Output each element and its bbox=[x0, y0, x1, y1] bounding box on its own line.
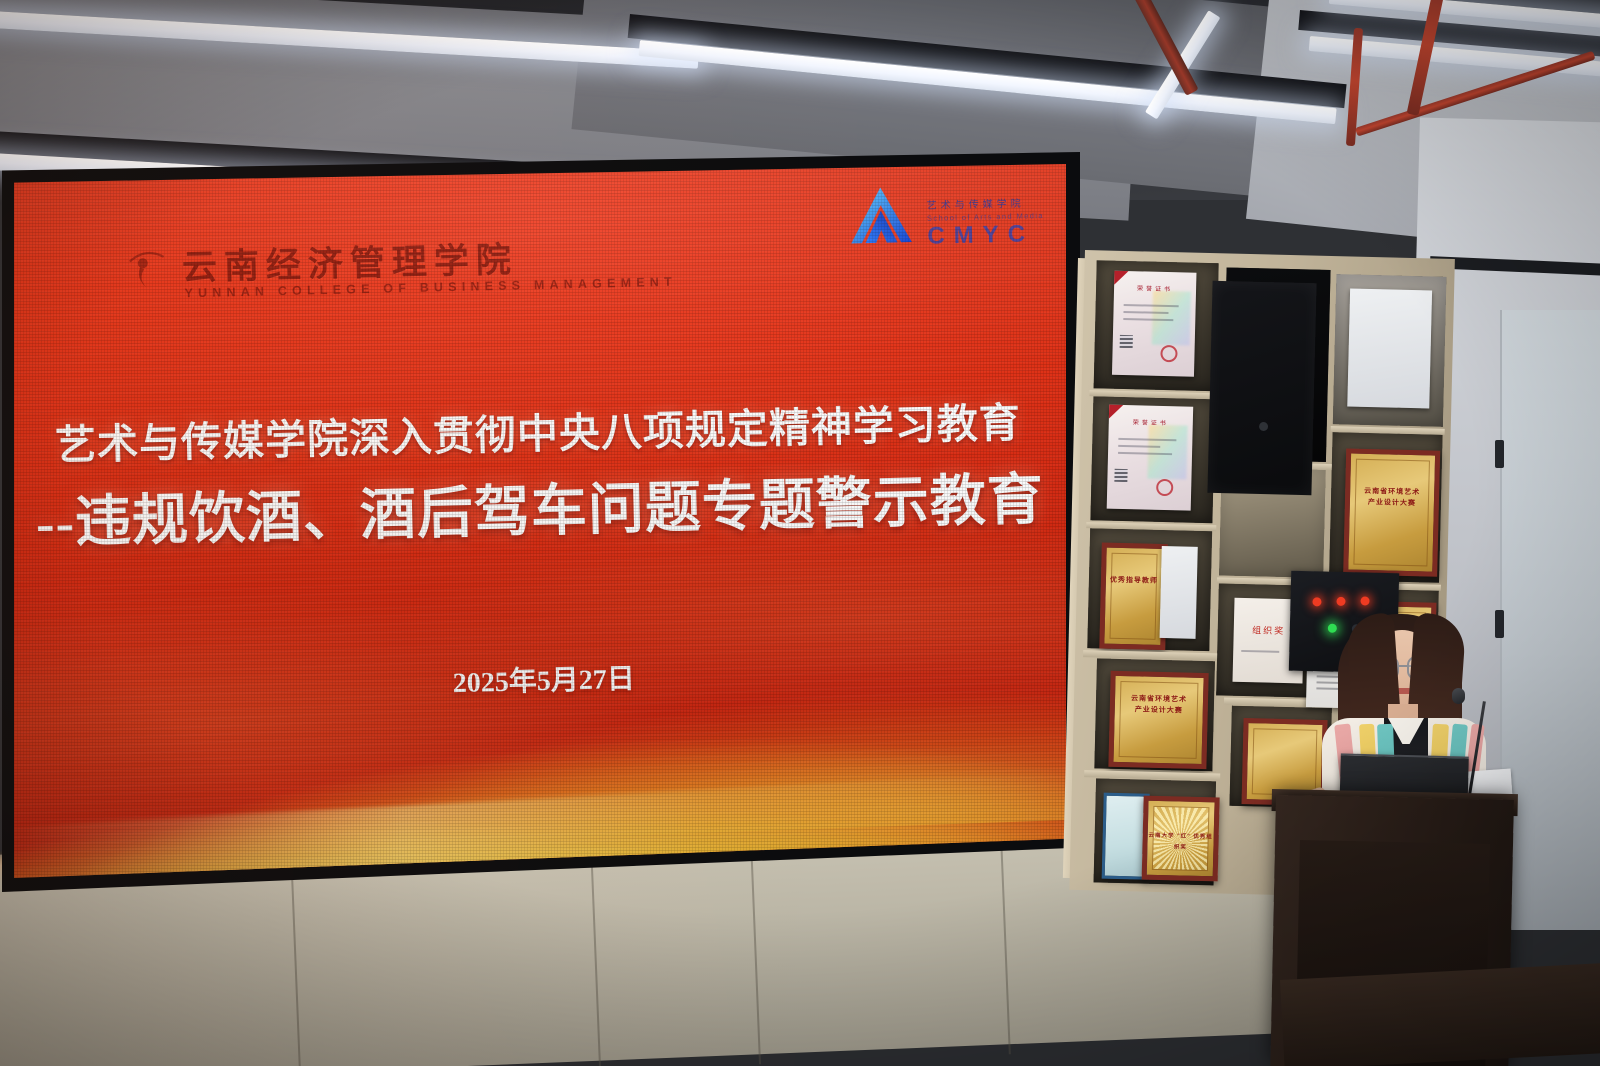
ceiling-speaker bbox=[1207, 281, 1316, 495]
shelf-cube-11: 云南大学 "红" 优秀组织奖 bbox=[1094, 778, 1217, 885]
shelf-cube-2: 荣誉证书 bbox=[1090, 396, 1215, 523]
foreground-table bbox=[1280, 963, 1600, 1066]
gooseneck-microphone-head bbox=[1452, 688, 1465, 704]
room-photo-scene: 云南经济管理学院 YUNNAN COLLEGE OF BUSINESS MANA… bbox=[0, 0, 1600, 1066]
document-2 bbox=[1347, 288, 1432, 408]
plaque-4: 云南省环境艺术产业设计大赛 bbox=[1108, 671, 1208, 769]
led-display-screen[interactable]: 云南经济管理学院 YUNNAN COLLEGE OF BUSINESS MANA… bbox=[14, 164, 1066, 878]
room-door[interactable] bbox=[1500, 310, 1600, 930]
plaque-1: 优秀指导教师 bbox=[1099, 542, 1168, 650]
shelf-cube-1: 荣誉证书 bbox=[1094, 260, 1219, 391]
certificate-1: 荣誉证书 bbox=[1112, 271, 1197, 377]
door-hinge-upper bbox=[1495, 440, 1504, 468]
document-1 bbox=[1160, 546, 1198, 639]
screen-shading bbox=[14, 164, 1066, 878]
shelf-cube-10: 云南省环境艺术产业设计大赛 bbox=[1094, 658, 1215, 771]
shelf-cube-3: 优秀指导教师 bbox=[1087, 528, 1212, 651]
plaque-2: 云南省环境艺术产业设计大赛 bbox=[1343, 448, 1440, 576]
plaque-5: 云南大学 "红" 优秀组织奖 bbox=[1142, 796, 1220, 882]
certificate-2: 荣誉证书 bbox=[1107, 405, 1194, 511]
shelf-cube-8: 云南省环境艺术产业设计大赛 bbox=[1329, 432, 1443, 583]
shelf-cube-7 bbox=[1333, 274, 1447, 427]
